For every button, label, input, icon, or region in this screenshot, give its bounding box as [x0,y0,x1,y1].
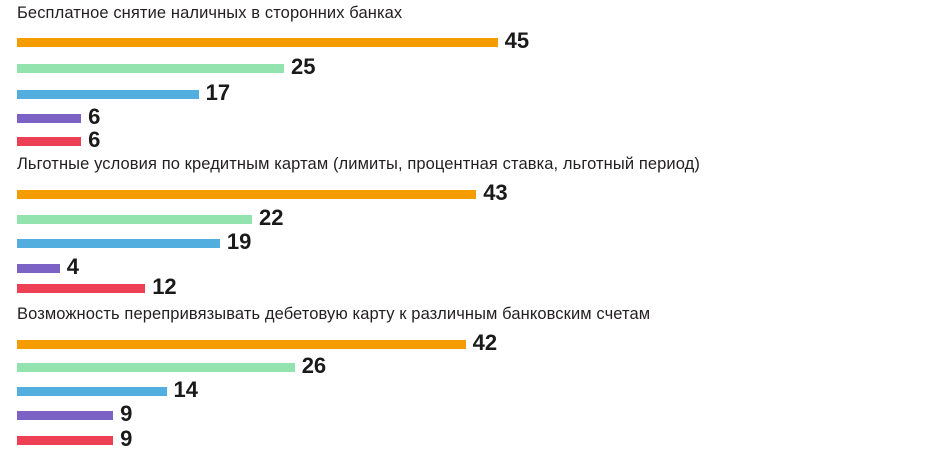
bar-series-4 [17,114,81,123]
bar-value-label: 6 [88,106,100,128]
bar-value-label: 19 [227,231,251,253]
group-title: Возможность перепривязывать дебетовую ка… [0,305,650,324]
bar-row: 42 [0,333,497,355]
bar-series-2 [17,215,252,224]
bar-series-4 [17,411,113,420]
bar-value-label: 9 [120,403,132,425]
group-title: Льготные условия по кредитным картам (ли… [0,155,700,174]
bar-value-label: 6 [88,129,100,151]
bar-left-gutter [0,194,17,195]
bar-value-label: 45 [505,30,529,52]
bar-left-gutter [0,94,17,95]
bar-left-gutter [0,344,17,345]
bar-series-5 [17,137,81,146]
bar-row: 43 [0,183,508,205]
bar-row: 19 [0,232,251,254]
bar-row: 6 [0,107,100,129]
bar-left-gutter [0,367,17,368]
bar-series-1 [17,340,466,349]
bar-series-4 [17,264,60,273]
bar-row: 26 [0,356,326,378]
bar-value-label: 17 [206,82,230,104]
bar-left-gutter [0,440,17,441]
bar-series-3 [17,387,167,396]
bar-value-label: 43 [483,182,507,204]
bar-left-gutter [0,243,17,244]
bar-series-5 [17,436,113,445]
bar-row: 17 [0,83,230,105]
bar-left-gutter [0,42,17,43]
bar-value-label: 42 [473,332,497,354]
bar-row: 22 [0,208,283,230]
bar-left-gutter [0,415,17,416]
bar-series-1 [17,190,476,199]
bar-left-gutter [0,268,17,269]
bar-value-label: 26 [302,355,326,377]
bar-series-5 [17,284,145,293]
bar-value-label: 4 [67,256,79,278]
group-title: Бесплатное снятие наличных в сторонних б… [0,4,402,23]
bar-left-gutter [0,219,17,220]
bar-series-3 [17,239,220,248]
bar-row: 45 [0,31,529,53]
bar-row: 12 [0,277,177,299]
horizontal-bar-chart: Бесплатное снятие наличных в сторонних б… [0,0,930,450]
bar-left-gutter [0,68,17,69]
bar-value-label: 25 [291,56,315,78]
bar-value-label: 14 [174,379,198,401]
bar-value-label: 12 [152,276,176,298]
bar-left-gutter [0,141,17,142]
bar-value-label: 9 [120,428,132,450]
bar-series-3 [17,90,199,99]
bar-row: 25 [0,57,315,79]
bar-left-gutter [0,288,17,289]
bar-series-2 [17,64,284,73]
bar-row: 4 [0,257,79,279]
bar-value-label: 22 [259,207,283,229]
bar-left-gutter [0,118,17,119]
bar-row: 6 [0,130,100,152]
bar-series-1 [17,38,498,47]
bar-row: 9 [0,429,132,451]
bar-series-2 [17,363,295,372]
bar-row: 9 [0,404,132,426]
bar-row: 14 [0,380,198,402]
bar-left-gutter [0,391,17,392]
